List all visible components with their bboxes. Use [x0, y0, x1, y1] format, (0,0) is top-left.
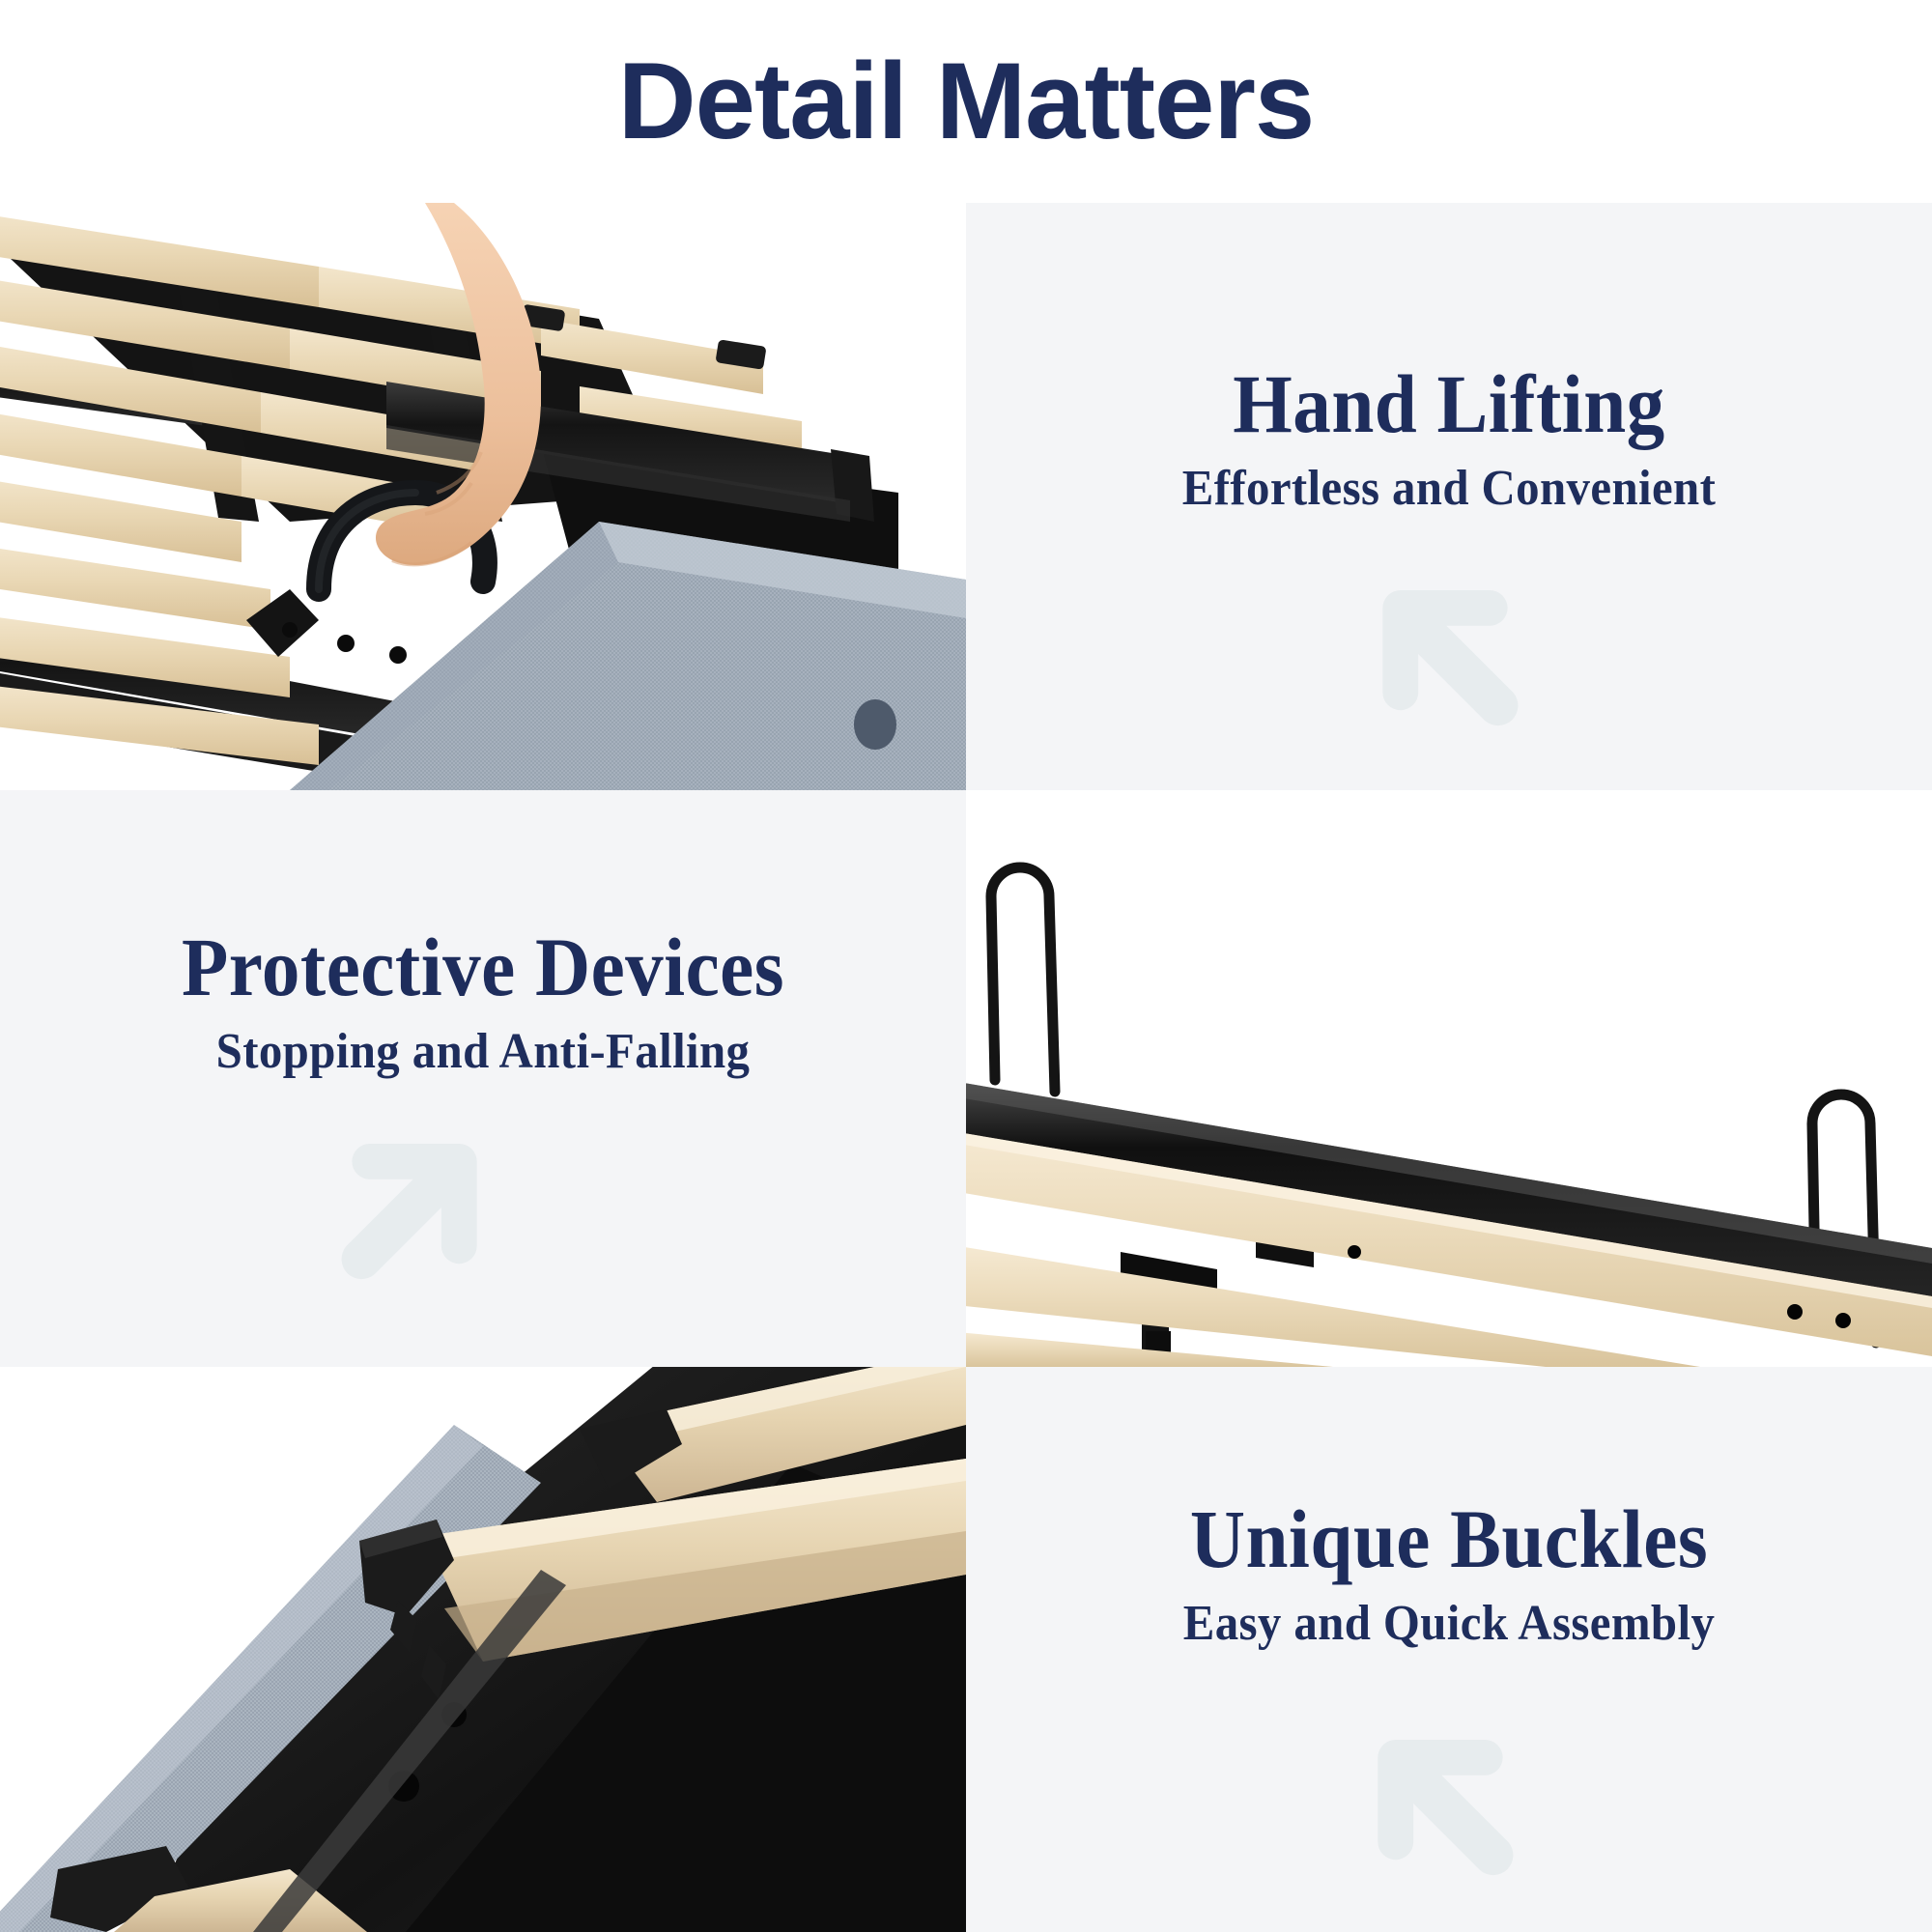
arrow-up-left-icon	[1343, 1695, 1565, 1918]
text-panel-protective-devices: Protective Devices Stopping and Anti-Fal…	[0, 790, 966, 1367]
feature-grid: Hand Lifting Effortless and Convenient P…	[0, 203, 1932, 1932]
protective-devices-subheading: Stopping and Anti-Falling	[29, 1024, 937, 1079]
hand-lifting-text-block: Hand Lifting Effortless and Convenient	[966, 362, 1932, 516]
bed-frame-hand-lifting-image	[0, 203, 966, 790]
buckle-detail-image	[0, 1367, 966, 1932]
protective-devices-illustration	[966, 790, 1932, 1367]
unique-buckles-illustration	[0, 1367, 966, 1932]
hand-lifting-illustration	[0, 203, 966, 790]
unique-buckles-heading: Unique Buckles	[1005, 1497, 1893, 1582]
hand-lifting-subheading: Effortless and Convenient	[995, 461, 1903, 516]
unique-buckles-subheading: Easy and Quick Assembly	[995, 1596, 1903, 1651]
photo-hand-lifting	[0, 203, 966, 790]
page-title: Detail Matters	[618, 47, 1314, 156]
anti-falling-stoppers-image	[966, 790, 1932, 1367]
unique-buckles-text-block: Unique Buckles Easy and Quick Assembly	[966, 1497, 1932, 1651]
infographic-page: Detail Matters	[0, 0, 1932, 1932]
protective-devices-heading: Protective Devices	[39, 925, 927, 1010]
photo-unique-buckles	[0, 1367, 966, 1932]
protective-devices-text-block: Protective Devices Stopping and Anti-Fal…	[0, 925, 966, 1079]
arrow-up-right-icon	[290, 1099, 512, 1321]
text-panel-hand-lifting: Hand Lifting Effortless and Convenient	[966, 203, 1932, 790]
page-header: Detail Matters	[0, 0, 1932, 203]
hand-lifting-heading: Hand Lifting	[1005, 362, 1893, 447]
photo-protective-devices	[966, 790, 1932, 1367]
arrow-up-left-icon	[1348, 546, 1570, 768]
text-panel-unique-buckles: Unique Buckles Easy and Quick Assembly	[966, 1367, 1932, 1932]
